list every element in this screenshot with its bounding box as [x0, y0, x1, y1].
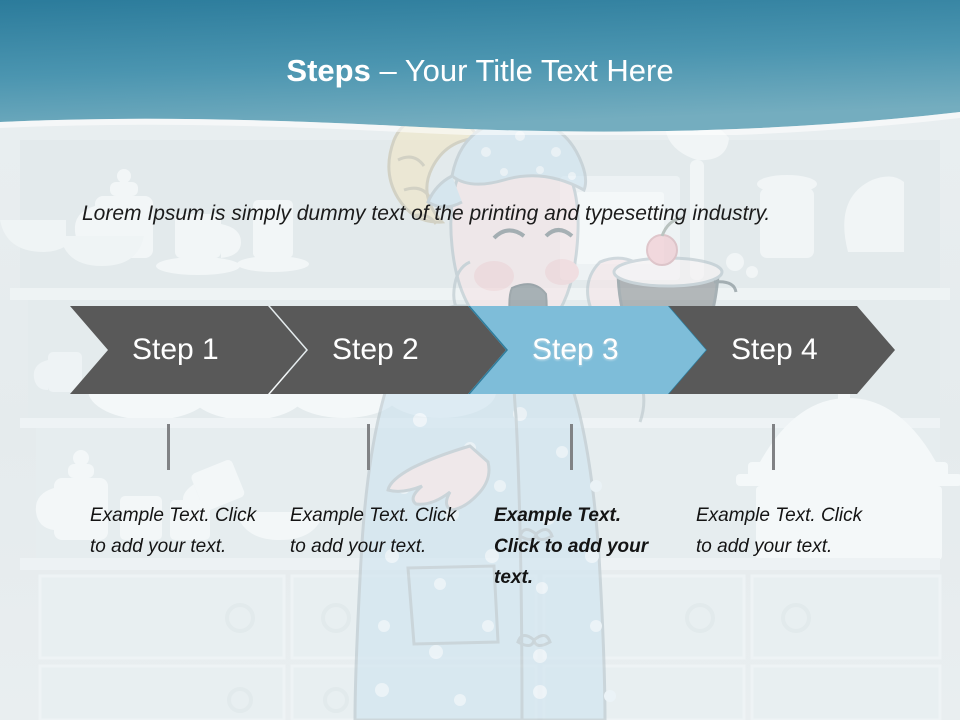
page-title: Steps – Your Title Text Here: [0, 52, 960, 90]
page-title-bold: Steps: [286, 53, 370, 88]
step-caption-3[interactable]: Example Text. Click to add your text.: [494, 500, 669, 593]
step-chevron-4-label: Step 4: [731, 333, 818, 367]
step-chevron-3-label: Step 3: [532, 333, 619, 367]
step-caption-2[interactable]: Example Text. Click to add your text.: [290, 500, 465, 562]
step-chevron-1-label: Step 1: [132, 333, 219, 367]
body-paragraph: Lorem Ipsum is simply dummy text of the …: [82, 196, 888, 232]
step-caption-4[interactable]: Example Text. Click to add your text.: [696, 500, 871, 562]
step-chevron-1[interactable]: Step 1: [70, 306, 306, 394]
step-connector-tick-1: [167, 424, 170, 470]
step-caption-1[interactable]: Example Text. Click to add your text.: [90, 500, 265, 562]
presentation-slide: Steps – Your Title Text Here Lorem Ipsum…: [0, 0, 960, 720]
page-title-regular: – Your Title Text Here: [371, 53, 674, 88]
step-connector-tick-4: [772, 424, 775, 470]
step-connector-tick-3: [570, 424, 573, 470]
step-chevron-2-label: Step 2: [332, 333, 419, 367]
step-connector-tick-2: [367, 424, 370, 470]
steps-chevron-band: Step 1 Step 2 Step 3 Step 4: [0, 306, 960, 396]
